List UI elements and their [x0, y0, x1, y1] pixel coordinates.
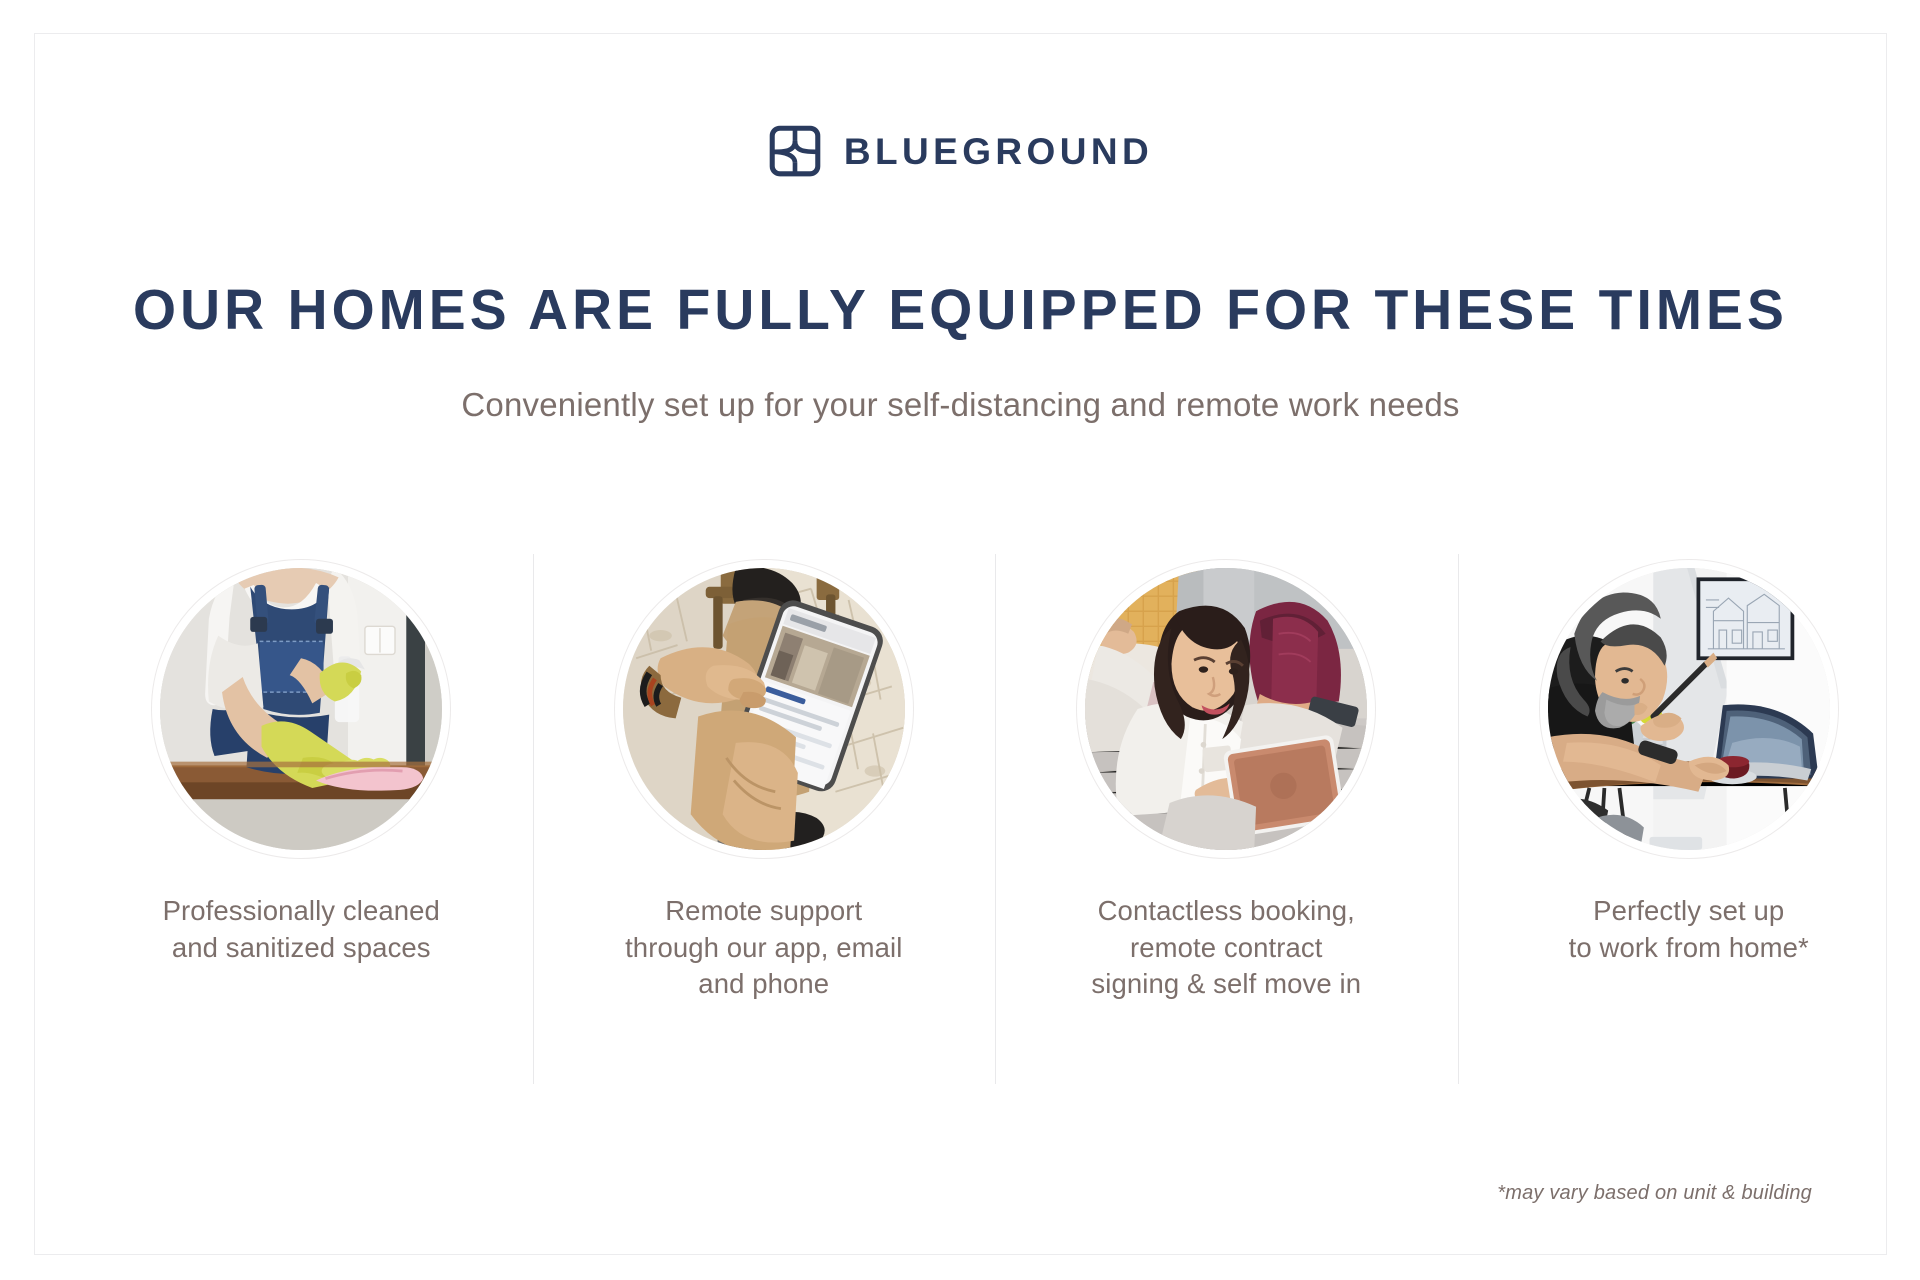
caption-line: through our app, email	[625, 932, 902, 963]
caption-line: and phone	[698, 968, 829, 999]
caption-line: remote contract	[1130, 932, 1323, 963]
page-title: OUR HOMES ARE FULLY EQUIPPED FOR THESE T…	[63, 281, 1858, 341]
caption-line: Remote support	[665, 895, 862, 926]
poster-page: BLUEGROUND OUR HOMES ARE FULLY EQUIPPED …	[0, 0, 1920, 1280]
feature-card-work-from-home: Perfectly set up to work from home*	[1458, 554, 1920, 1084]
feature-card-contactless-booking: Contactless booking, remote contract sig…	[995, 554, 1458, 1084]
page-subtitle: Conveniently set up for your self-distan…	[35, 384, 1886, 427]
feature-caption-2: Remote support through our app, email an…	[625, 893, 902, 1003]
photo-ring-1	[151, 559, 451, 859]
feature-caption-4: Perfectly set up to work from home*	[1569, 893, 1809, 966]
woman-with-tablet-on-bed-photo	[1085, 568, 1367, 850]
photo-ring-4	[1539, 559, 1839, 859]
caption-line: Perfectly set up	[1593, 895, 1784, 926]
brand-wordmark: BLUEGROUND	[844, 133, 1153, 170]
caption-line: signing & self move in	[1091, 968, 1361, 999]
caption-line: Contactless booking,	[1098, 895, 1355, 926]
feature-caption-1: Professionally cleaned and sanitized spa…	[163, 893, 440, 966]
caption-line: to work from home*	[1569, 932, 1809, 963]
poster-frame: BLUEGROUND OUR HOMES ARE FULLY EQUIPPED …	[34, 33, 1887, 1255]
photo-ring-3	[1076, 559, 1376, 859]
photo-ring-2	[614, 559, 914, 859]
man-working-at-desk-photo	[1548, 568, 1830, 850]
feature-columns: Professionally cleaned and sanitized spa…	[70, 554, 1920, 1084]
feature-caption-3: Contactless booking, remote contract sig…	[1091, 893, 1361, 1003]
caption-line: Professionally cleaned	[163, 895, 440, 926]
feature-card-remote-support: Remote support through our app, email an…	[533, 554, 996, 1084]
cleaning-person-photo	[160, 568, 442, 850]
feature-card-cleaning: Professionally cleaned and sanitized spa…	[70, 554, 533, 1084]
brand-logo: BLUEGROUND	[35, 124, 1886, 178]
footnote-disclaimer: *may vary based on unit & building	[1497, 1182, 1812, 1205]
blueground-square-icon	[768, 124, 822, 178]
hands-holding-phone-photo	[623, 568, 905, 850]
caption-line: and sanitized spaces	[172, 932, 431, 963]
